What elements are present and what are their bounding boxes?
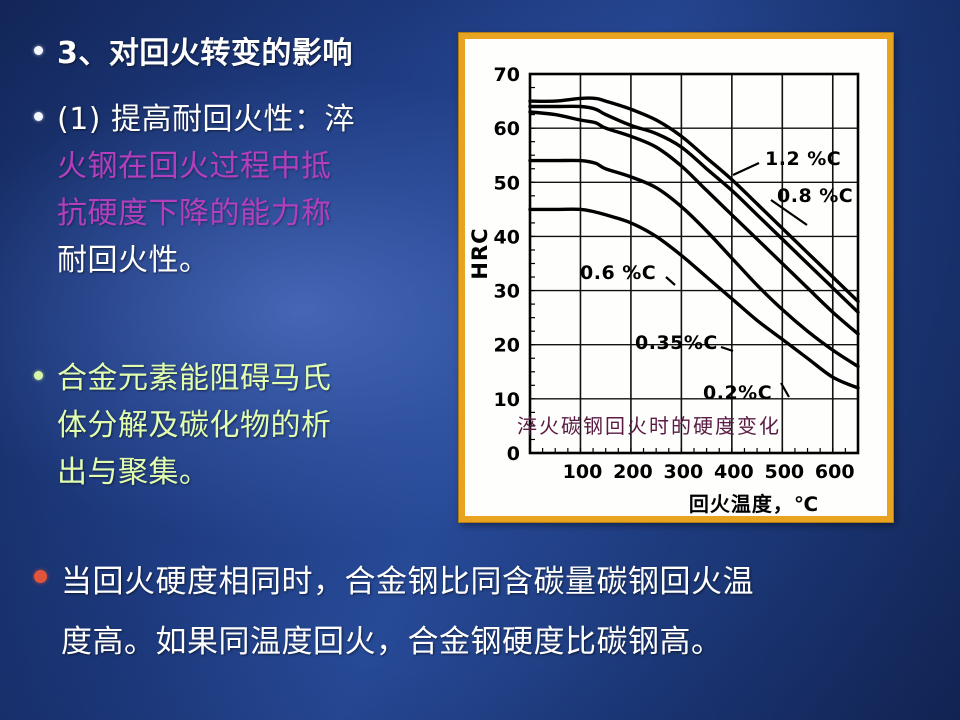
chart-annotation: 0.6 %C — [580, 262, 656, 284]
bullet-line: 体分解及碳化物的析 — [57, 402, 332, 449]
bullet-line: 3、对回火转变的影响 — [57, 30, 353, 77]
svg-text:200: 200 — [613, 461, 653, 483]
figure-frame: 010203040506070100200300400500600HRC回火温度… — [459, 33, 893, 522]
chart-annotation: 1.2 %C — [765, 148, 841, 170]
figure-caption-overlay: 淬火碳钢回火时的硬度变化 — [517, 410, 781, 439]
svg-text:400: 400 — [714, 461, 754, 483]
tempering-hardness-chart: 010203040506070100200300400500600HRC回火温度… — [465, 39, 887, 516]
svg-text:20: 20 — [494, 335, 520, 357]
svg-text:HRC: HRC — [468, 227, 492, 279]
bullet-line: 火钢在回火过程中抵 — [57, 143, 355, 190]
bullet-item-4-lines: 当回火硬度相同时，合金钢比同含碳量碳钢回火温 度高。如果同温度回火，合金钢硬度比… — [61, 552, 754, 672]
bullet-line: (1) 提高耐回火性：淬 — [57, 96, 355, 143]
svg-text:300: 300 — [664, 461, 704, 483]
svg-text:50: 50 — [494, 172, 520, 194]
svg-text:回火温度，℃: 回火温度，℃ — [689, 492, 819, 516]
svg-text:500: 500 — [764, 461, 804, 483]
chart-annotation: 0.2%C — [703, 382, 772, 404]
svg-text:60: 60 — [494, 118, 520, 140]
bullet-line: 抗硬度下降的能力称 — [57, 190, 355, 237]
svg-text:0: 0 — [507, 443, 520, 465]
bullet-dot-icon — [34, 46, 43, 55]
svg-text:600: 600 — [815, 461, 855, 483]
bullet-item-1: 3、对回火转变的影响 — [34, 30, 353, 77]
svg-text:70: 70 — [494, 64, 520, 86]
bullet-dot-icon — [34, 570, 47, 583]
bullet-line: 度高。如果同温度回火，合金钢硬度比碳钢高。 — [61, 612, 754, 672]
bullet-item-3: 合金元素能阻碍马氏 体分解及碳化物的析 出与聚集。 — [34, 355, 332, 496]
svg-text:30: 30 — [494, 281, 520, 303]
chart-annotation: 0.35%C — [635, 332, 718, 354]
bullet-dot-icon — [34, 112, 43, 121]
content-text-column: 3、对回火转变的影响 (1) 提高耐回火性：淬 火钢在回火过程中抵 抗硬度下降的… — [0, 0, 460, 545]
bullet-line: 耐回火性。 — [57, 237, 355, 284]
bullet-item-1-lines: 3、对回火转变的影响 — [57, 30, 353, 77]
bullet-dot-icon — [34, 371, 43, 380]
svg-text:40: 40 — [494, 226, 520, 248]
bullet-item-2-lines: (1) 提高耐回火性：淬 火钢在回火过程中抵 抗硬度下降的能力称 耐回火性。 — [57, 96, 355, 284]
svg-text:10: 10 — [494, 389, 520, 411]
figure-image: 010203040506070100200300400500600HRC回火温度… — [465, 39, 887, 516]
svg-text:100: 100 — [563, 461, 603, 483]
bullet-line: 当回火硬度相同时，合金钢比同含碳量碳钢回火温 — [61, 552, 754, 612]
bullet-line: 出与聚集。 — [57, 449, 332, 496]
slide-canvas: 3、对回火转变的影响 (1) 提高耐回火性：淬 火钢在回火过程中抵 抗硬度下降的… — [0, 0, 960, 720]
bullet-item-2: (1) 提高耐回火性：淬 火钢在回火过程中抵 抗硬度下降的能力称 耐回火性。 — [34, 96, 355, 284]
bullet-line: 合金元素能阻碍马氏 — [57, 355, 332, 402]
bullet-item-3-lines: 合金元素能阻碍马氏 体分解及碳化物的析 出与聚集。 — [57, 355, 332, 496]
bullet-item-4: 当回火硬度相同时，合金钢比同含碳量碳钢回火温 度高。如果同温度回火，合金钢硬度比… — [34, 552, 754, 672]
chart-annotation: 0.8 %C — [777, 185, 853, 207]
